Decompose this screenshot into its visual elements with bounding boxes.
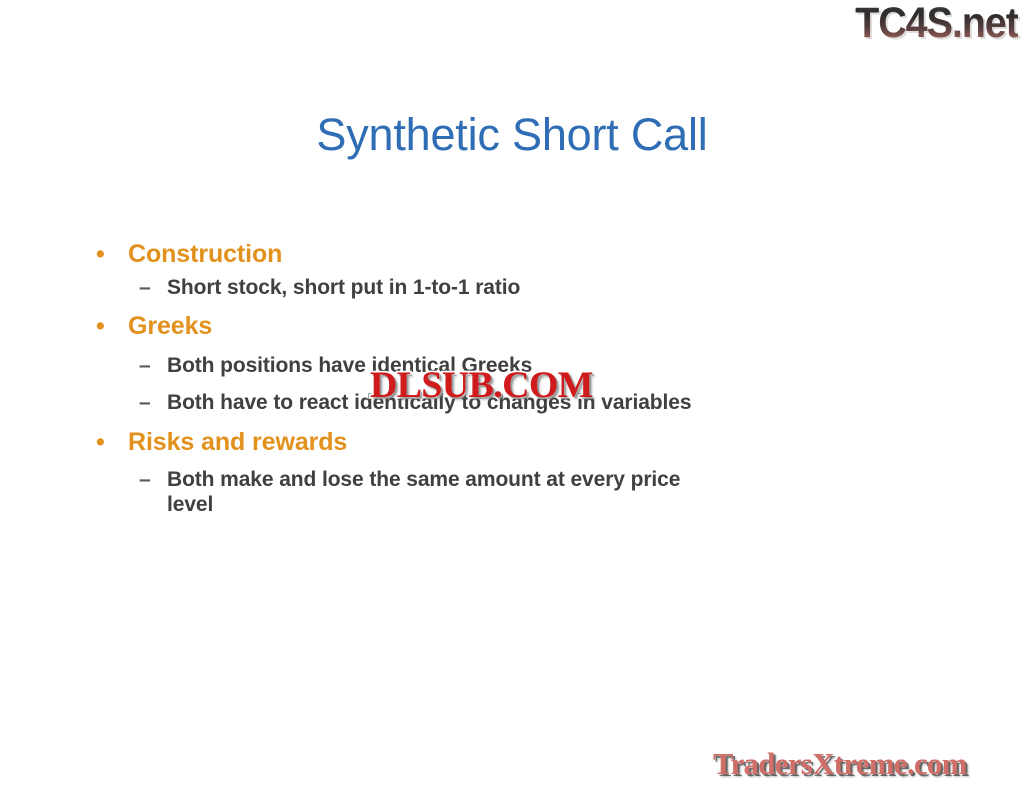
bullet-dot-icon: •	[96, 240, 105, 270]
tradersxtreme-logo: TradersXtreme.com	[713, 746, 967, 783]
slide-canvas: TC4S.net TC4S.net Synthetic Short Call •…	[0, 0, 1024, 791]
bullet-group-greeks: • Greeks – Both positions have identical…	[0, 312, 720, 415]
page-title: Synthetic Short Call	[0, 109, 1024, 161]
dash-icon: –	[139, 468, 151, 493]
bullet-heading-label: Construction	[128, 240, 282, 268]
tradersxtreme-logo-wrap: TradersXtreme.com TradersXtreme.com	[713, 746, 1018, 786]
sub-bullet-item: – Short stock, short put in 1-to-1 ratio	[0, 276, 720, 301]
bullet-heading-label: Risks and rewards	[128, 428, 347, 456]
bullet-dot-icon: •	[96, 428, 105, 458]
dash-icon: –	[139, 276, 151, 301]
sub-bullet-item: – Both positions have identical Greeks	[0, 354, 720, 379]
dash-icon: –	[139, 391, 151, 416]
bullet-dot-icon: •	[96, 312, 105, 342]
sub-bullet-item: – Both have to react identically to chan…	[0, 391, 720, 416]
bullet-group-construction: • Construction – Short stock, short put …	[0, 240, 720, 300]
sub-bullet-item: – Both make and lose the same amount at …	[0, 468, 720, 518]
bullet-heading-greeks: • Greeks	[0, 312, 720, 342]
tc4s-logo: TC4S.net	[855, 2, 1018, 45]
sub-bullet-label: Both make and lose the same amount at ev…	[167, 468, 680, 516]
sub-bullet-label: Short stock, short put in 1-to-1 ratio	[167, 276, 520, 299]
bullet-list: • Construction – Short stock, short put …	[0, 240, 720, 528]
bullet-group-risks-and-rewards: • Risks and rewards – Both make and lose…	[0, 428, 720, 518]
dlsub-watermark: DLSUB.COM	[370, 367, 593, 404]
bullet-heading-label: Greeks	[128, 312, 212, 340]
bullet-heading-construction: • Construction	[0, 240, 720, 270]
dash-icon: –	[139, 354, 151, 379]
bullet-heading-risks-and-rewards: • Risks and rewards	[0, 428, 720, 458]
